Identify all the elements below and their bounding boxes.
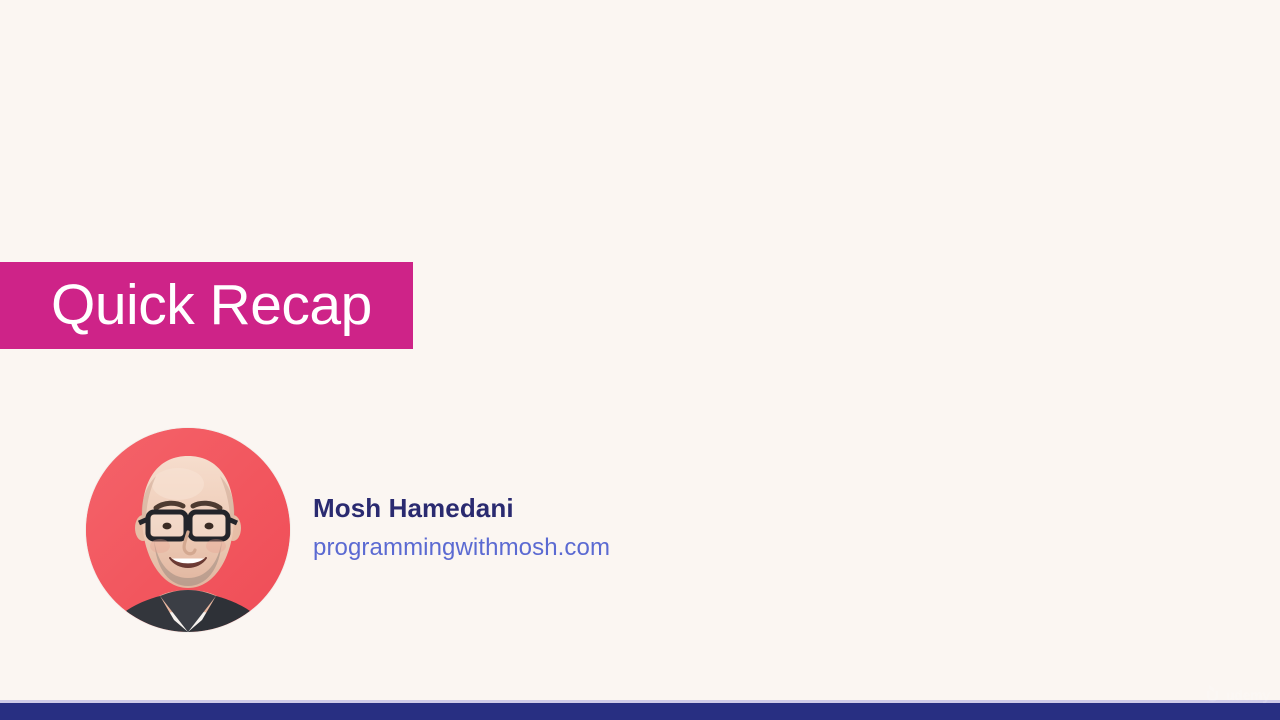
slide-canvas: Quick Recap xyxy=(0,0,1280,720)
avatar xyxy=(86,428,290,632)
page-title: Quick Recap xyxy=(0,277,372,334)
title-banner: Quick Recap xyxy=(0,262,413,349)
presenter-website: programmingwithmosh.com xyxy=(313,534,610,562)
video-player-bar[interactable] xyxy=(0,703,1280,720)
presenter-block: Mosh Hamedani programmingwithmosh.com xyxy=(86,428,610,632)
presenter-name: Mosh Hamedani xyxy=(313,493,610,524)
presenter-text: Mosh Hamedani programmingwithmosh.com xyxy=(313,493,610,567)
avatar-photo-icon xyxy=(86,428,290,632)
